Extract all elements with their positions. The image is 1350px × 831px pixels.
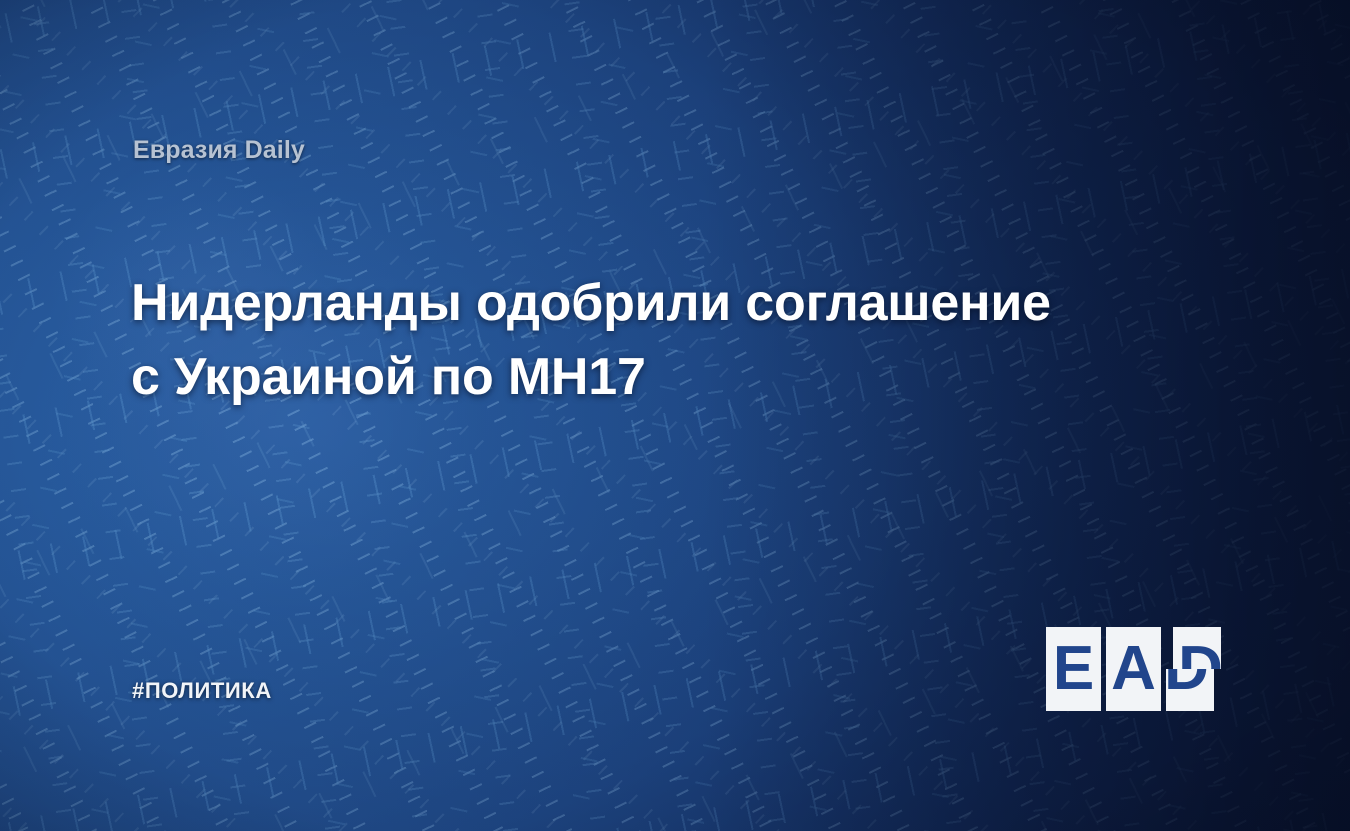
- page-title: Нидерланды одобрили соглашение с Украино…: [131, 266, 1131, 414]
- logo-letter-d-upper: D: [1173, 638, 1221, 669]
- headline-line-1: Нидерланды одобрили соглашение: [131, 266, 1131, 340]
- logo-letter-d-bottom-half: D: [1166, 669, 1214, 711]
- logo-tile-d-split: D D: [1166, 627, 1221, 711]
- logo-tile-a: A: [1106, 627, 1161, 711]
- brand-kicker: Евразия Daily: [133, 136, 305, 165]
- logo-letter-d-top-half: D: [1173, 627, 1221, 669]
- news-card: Евразия Daily Нидерланды одобрили соглаш…: [0, 0, 1350, 831]
- logo-letter-a: A: [1106, 638, 1161, 700]
- logo-tile-e: E: [1046, 627, 1101, 711]
- card-content: Евразия Daily Нидерланды одобрили соглаш…: [0, 0, 1350, 831]
- category-tag[interactable]: #ПОЛИТИКА: [132, 678, 272, 704]
- logo-letter-e: E: [1046, 638, 1101, 700]
- eadaily-logo[interactable]: E A D D: [1046, 627, 1222, 711]
- headline-line-2: с Украиной по MH17: [131, 340, 1131, 414]
- logo-letter-d-lower: D: [1166, 669, 1214, 700]
